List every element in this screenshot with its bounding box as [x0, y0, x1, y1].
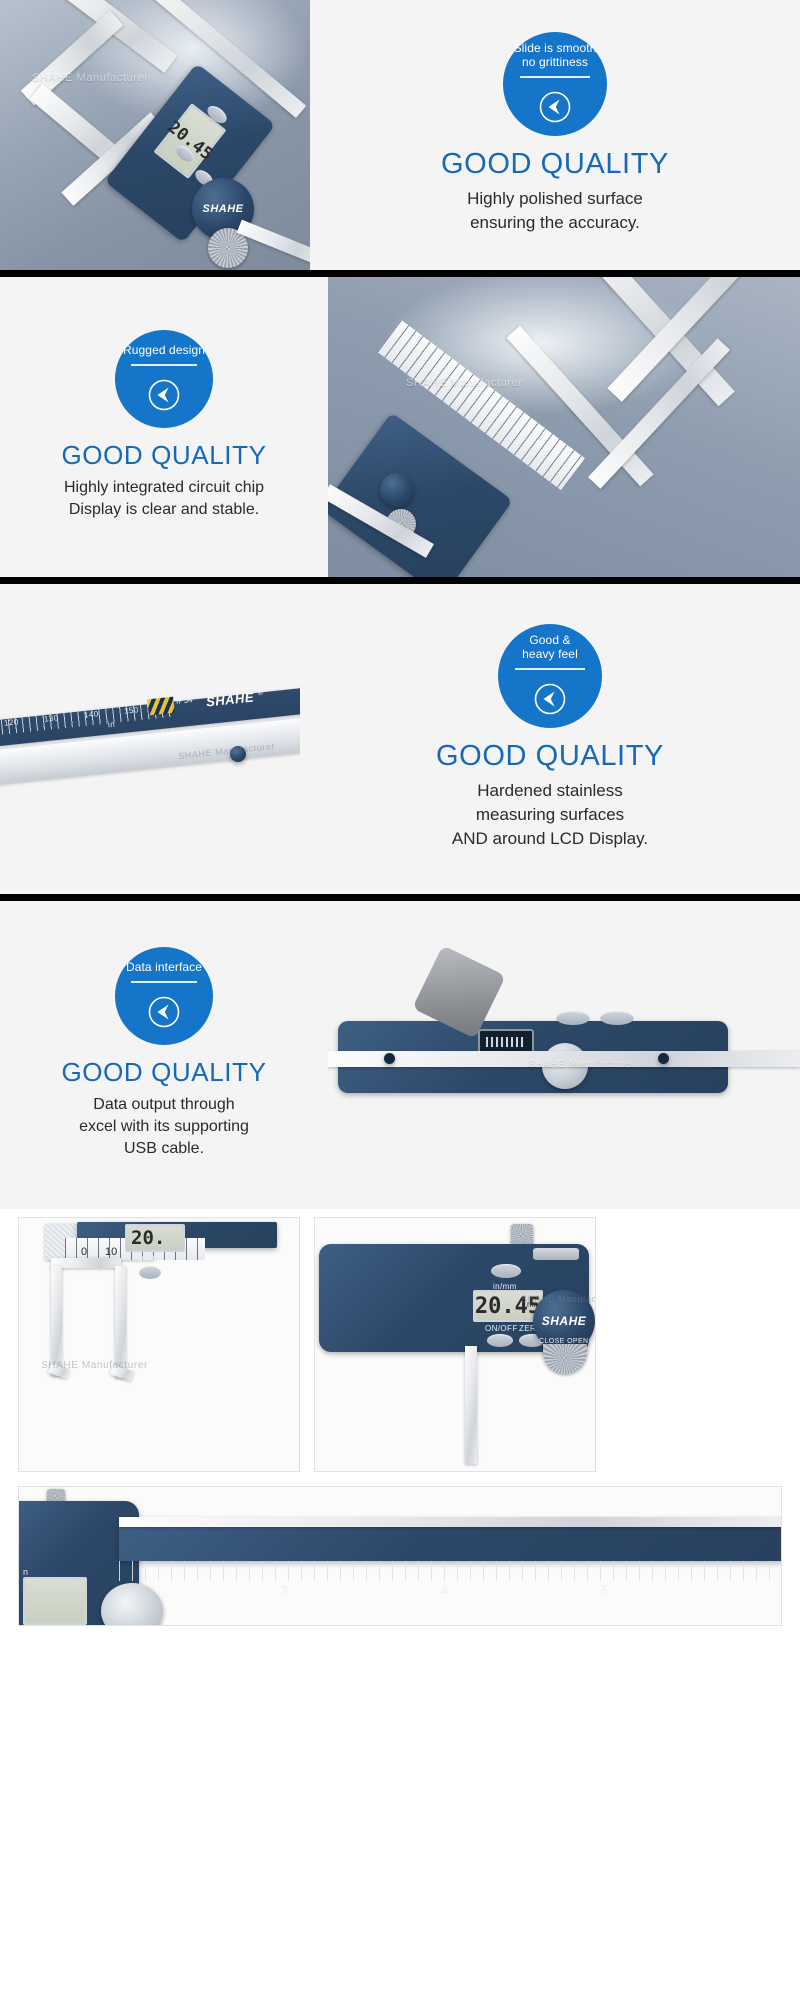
feature-text-data-interface: Data interface GOOD QUALITY Data output … [0, 901, 328, 1209]
feature-panel-rugged-design: Rugged design GOOD QUALITY Highly integr… [0, 277, 800, 584]
feature-photo-scale-bracket: SHAHE Manufacturer [328, 277, 800, 577]
feature-description: Data output through excel with its suppo… [79, 1094, 249, 1160]
scale-number-3: 3 [281, 1583, 289, 1598]
feature-panel-smooth-slide: 20.45 SHAHE SHAHE Manufacturer Slide is … [0, 0, 800, 277]
gallery-item-beam-scale[interactable]: n 3 4 5 [18, 1486, 782, 1626]
feature-description: Highly polished surface ensuring the acc… [467, 187, 643, 235]
badge-divider [131, 364, 198, 366]
feature-description: Highly integrated circuit chip Display i… [64, 477, 264, 521]
feature-headline: GOOD QUALITY [61, 1057, 266, 1088]
feature-headline: GOOD QUALITY [441, 148, 669, 181]
badge-divider [131, 981, 198, 983]
feature-photo-data-port: SHAHE Manufacturer [328, 901, 800, 1209]
badge-divider [515, 668, 586, 670]
feature-headline: GOOD QUALITY [61, 440, 266, 471]
feature-photo-steel-beam: 120 130 140 150 in IP54 SHAHE ® SHAHE Ma… [0, 584, 300, 894]
gallery-lcd-reading: 20. [125, 1224, 185, 1252]
feature-badge-rugged-design: Rugged design [115, 330, 213, 428]
onoff-button-label: ON/OFF [137, 1254, 170, 1263]
caliper-brand-mark: SHAHE [542, 1314, 587, 1328]
badge-label: Slide is smooth no grittiness [508, 41, 603, 69]
scale-number-4: 4 [441, 1583, 449, 1598]
left-arrow-circle-icon [530, 679, 570, 719]
feature-panel-data-interface: Data interface GOOD QUALITY Data output … [0, 901, 800, 1209]
unit-label: n [23, 1567, 28, 1577]
feature-badge-heavy-feel: Good & heavy feel [498, 624, 602, 728]
feature-panel-heavy-feel: 120 130 140 150 in IP54 SHAHE ® SHAHE Ma… [0, 584, 800, 901]
feature-badge-data-interface: Data interface [115, 947, 213, 1045]
feature-headline: GOOD QUALITY [436, 740, 664, 773]
left-arrow-circle-icon [144, 992, 184, 1032]
scale-number-0: 0 [81, 1246, 87, 1258]
feature-text-heavy-feel: Good & heavy feel GOOD QUALITY Hardened … [300, 584, 800, 894]
scale-number-5: 5 [601, 1583, 609, 1598]
feature-photo-caliper-bracket: 20.45 SHAHE SHAHE Manufacturer [0, 0, 310, 270]
feature-description: Hardened stainless measuring surfaces AN… [452, 779, 648, 851]
product-gallery: 0 10 20. ON/OFF SHAHE Manufacturer in/mm… [0, 1209, 800, 1472]
badge-label: Good & heavy feel [516, 633, 584, 661]
badge-label: Rugged design [117, 343, 211, 357]
feature-badge-smooth-slide: Slide is smooth no grittiness [503, 32, 607, 136]
feature-text-rugged-design: Rugged design GOOD QUALITY Highly integr… [0, 277, 328, 577]
product-detail-page: 20.45 SHAHE SHAHE Manufacturer Slide is … [0, 0, 800, 1626]
badge-label: Data interface [120, 960, 208, 974]
badge-divider [520, 76, 591, 78]
onoff-button-label: ON/OFF [485, 1324, 518, 1333]
left-arrow-circle-icon [535, 87, 575, 127]
left-arrow-circle-icon [144, 375, 184, 415]
caliper-brand-mark: SHAHE [202, 203, 243, 215]
gallery-item-jaws-closeup[interactable]: 0 10 20. ON/OFF SHAHE Manufacturer [18, 1217, 300, 1472]
feature-text-smooth-slide: Slide is smooth no grittiness GOOD QUALI… [310, 0, 800, 270]
gallery-item-head-closeup[interactable]: in/mm 20.45 mm ON/OFF ZERO SHAHE CLOSE O… [314, 1217, 596, 1472]
scale-number-10: 10 [105, 1246, 117, 1258]
